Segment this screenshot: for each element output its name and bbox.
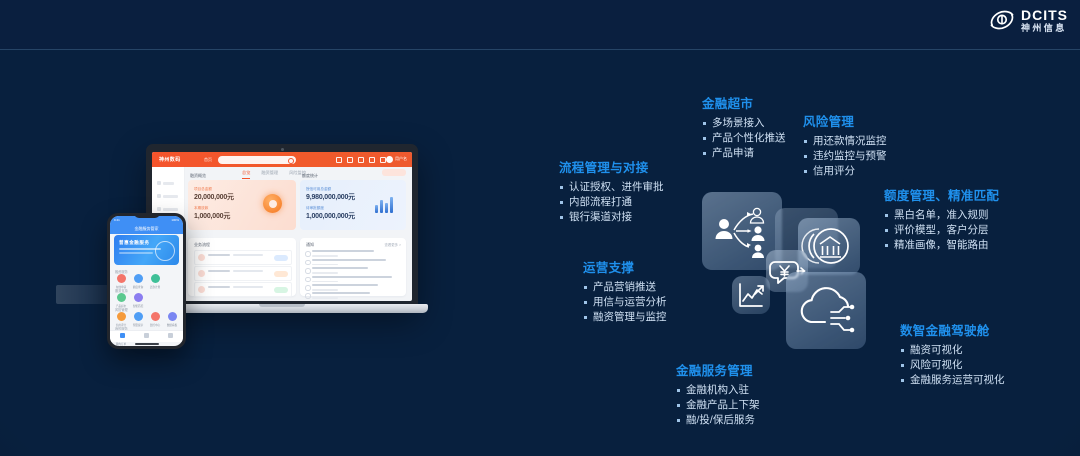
app-tile[interactable]: 额度查询 xyxy=(131,274,145,289)
app-primary-button[interactable] xyxy=(382,169,406,176)
tab-overview[interactable]: 总览 xyxy=(242,170,250,179)
block-heading: 流程管理与对接 xyxy=(559,157,664,176)
phone-tabbar[interactable] xyxy=(110,330,183,342)
progress-ring xyxy=(263,194,282,213)
table-row[interactable] xyxy=(194,282,292,297)
step-icon xyxy=(198,254,205,261)
block-list: 黑白名单，准入规则 评价模型，客户分层 精准画像，智能路由 xyxy=(884,208,999,253)
list-item: 产品营销推送 xyxy=(583,280,667,295)
tab-financing[interactable]: 融资管理 xyxy=(261,170,278,179)
app-tile[interactable]: 还款计划 xyxy=(148,274,162,289)
list-item: 信用评分 xyxy=(803,164,887,179)
phone-banner[interactable]: 普惠金融服务 xyxy=(114,235,179,265)
sidebar-item-financing[interactable] xyxy=(163,195,178,198)
cloud-circuit-icon xyxy=(786,272,866,349)
card-title-left: 融资概览 xyxy=(190,173,206,179)
metric-value: 9,980,000,000元 xyxy=(306,192,355,202)
growth-chart-icon xyxy=(732,276,770,314)
tile-label: 额度查询 xyxy=(131,285,145,289)
step-icon xyxy=(198,286,205,293)
app-search-input[interactable] xyxy=(218,156,296,164)
avatar xyxy=(386,156,393,163)
app-tile[interactable]: 监控中心 xyxy=(148,312,162,327)
table-row[interactable] xyxy=(194,266,292,281)
bell-icon[interactable] xyxy=(347,157,353,163)
header-bar xyxy=(0,0,1080,49)
user-icon xyxy=(168,333,173,338)
status-badge xyxy=(274,271,288,277)
app-logo: 神州数码 xyxy=(159,156,181,163)
panel-notifications: 通知 查看更多 > xyxy=(300,238,406,296)
icon-cluster xyxy=(690,188,870,363)
tile-row[interactable]: 在线申请 额度查询 还款计划 xyxy=(114,274,179,289)
block-financial-service-mgmt: 金融服务管理 金融机构入驻 金融产品上下架 融/投/保后服务 xyxy=(676,360,760,428)
block-heading: 金融服务管理 xyxy=(676,360,760,379)
panel-title: 通知 xyxy=(306,242,314,248)
gear-icon[interactable] xyxy=(369,157,375,163)
list-item: 用还款情况监控 xyxy=(803,134,887,149)
app-nav-label: 首页 xyxy=(204,157,212,163)
tile-label: 智能匹配 xyxy=(131,304,145,308)
app-tile[interactable]: 数据看板 xyxy=(165,312,179,327)
block-market: 金融超市 多场景接入 产品个性化推送 产品申请 xyxy=(702,93,786,161)
brand-logo: DCITS 神州信息 xyxy=(988,7,1068,33)
tile-label: 我的订单 xyxy=(114,342,128,346)
tile-label: 还款计划 xyxy=(148,285,162,289)
panel-workflow: 业务流程 xyxy=(188,238,296,296)
block-process: 流程管理与对接 认证授权、进件审批 内部流程打通 银行渠道对接 xyxy=(559,157,664,225)
status-badge xyxy=(274,287,288,293)
block-risk: 风险管理 用还款情况监控 违约监控与预警 信用评分 xyxy=(803,111,887,179)
home-icon xyxy=(120,333,125,338)
status-battery: 100% xyxy=(171,218,179,222)
help-icon[interactable] xyxy=(358,157,364,163)
block-heading: 金融超市 xyxy=(702,93,786,112)
sidebar-item-home[interactable] xyxy=(163,182,174,185)
metric-value: 20,000,000元 xyxy=(194,192,234,202)
tile-row[interactable]: 产品超市 智能匹配 xyxy=(114,293,179,308)
block-list: 多场景接入 产品个性化推送 产品申请 xyxy=(702,116,786,161)
sidebar-icon-analytics xyxy=(157,207,161,211)
block-list: 认证授权、进件审批 内部流程打通 银行渠道对接 xyxy=(559,180,664,225)
sidebar-icon-financing xyxy=(157,194,161,198)
laptop-lid: 神州数码 首页 用户名 总览 xyxy=(146,144,418,307)
list-item: 精准画像，智能路由 xyxy=(884,238,999,253)
app-tile[interactable]: 预警提示 xyxy=(131,312,145,327)
slide-root: 「金融服务管家」助力产业金融服务精准滴灌，提升产业链韧性 DCITS 神州信息 … xyxy=(0,0,1080,456)
list-item: 产品申请 xyxy=(702,146,786,161)
list-item: 融/投/保后服务 xyxy=(676,413,760,428)
list-item: 融资管理与监控 xyxy=(583,310,667,325)
list-item: 银行渠道对接 xyxy=(559,210,664,225)
block-list: 金融机构入驻 金融产品上下架 融/投/保后服务 xyxy=(676,383,760,428)
phone-page-title: 金融服务管家 xyxy=(135,226,159,232)
block-quota: 额度管理、精准匹配 黑白名单，准入规则 评价模型，客户分层 精准画像，智能路由 xyxy=(884,185,999,253)
sidebar-icon-home xyxy=(157,181,161,185)
logo-text-en: DCITS xyxy=(1021,8,1068,22)
step-icon xyxy=(198,270,205,277)
metric-card-financing: 项目总金额 20,000,000元 本期放款 1,000,000元 xyxy=(188,180,296,230)
tile-row[interactable]: 信用评分 预警提示 监控中心 数据看板 xyxy=(114,312,179,327)
service-icon xyxy=(144,333,149,338)
list-item: 融资可视化 xyxy=(900,343,1005,358)
laptop-screen: 神州数码 首页 用户名 总览 xyxy=(152,152,412,301)
app-toolbar-icons[interactable] xyxy=(336,157,386,163)
galaxy-swirl-icon xyxy=(988,7,1016,33)
app-user-label: 用户名 xyxy=(395,156,407,162)
sidebar-item-analytics[interactable] xyxy=(163,208,178,211)
tile-label: 监控中心 xyxy=(148,323,162,327)
card-title-right: 额度统计 xyxy=(302,173,318,179)
list-item: 内部流程打通 xyxy=(559,195,664,210)
list-item: 违约监控与预警 xyxy=(803,149,887,164)
panel-title: 业务流程 xyxy=(194,242,210,248)
status-badge xyxy=(274,255,288,261)
app-tile[interactable]: 智能匹配 xyxy=(131,293,145,308)
tile-growth-chart xyxy=(732,276,770,314)
block-heading: 风险管理 xyxy=(803,111,887,130)
banner-title: 普惠金融服务 xyxy=(119,240,150,246)
list-item: 金融产品上下架 xyxy=(676,398,760,413)
bar-chart-icon xyxy=(375,195,397,213)
decorative-strip xyxy=(56,285,112,304)
table-row[interactable] xyxy=(194,250,292,265)
block-list: 用还款情况监控 违约监控与预警 信用评分 xyxy=(803,134,887,179)
phone-notch xyxy=(134,213,160,218)
block-list: 融资可视化 风险可视化 金融服务运营可视化 xyxy=(900,343,1005,388)
list-item: 黑白名单，准入规则 xyxy=(884,208,999,223)
phone-screen: 9:41 100% 金融服务管家 普惠金融服务 融资服务 在线申请 额度查询 还… xyxy=(110,216,183,346)
metric-value: 1,000,000元 xyxy=(194,211,230,221)
block-cockpit: 数智金融驾驶舱 融资可视化 风险可视化 金融服务运营可视化 xyxy=(900,320,1005,388)
block-heading: 数智金融驾驶舱 xyxy=(900,320,1005,339)
grid-icon[interactable] xyxy=(336,157,342,163)
block-ops: 运营支撑 产品营销推送 用信与运营分析 融资管理与监控 xyxy=(583,257,667,325)
list-item: 产品个性化推送 xyxy=(702,131,786,146)
status-time: 9:41 xyxy=(114,218,120,222)
app-tile[interactable]: 信用评分 xyxy=(114,312,128,327)
app-user-menu[interactable]: 用户名 xyxy=(386,156,407,163)
search-icon xyxy=(288,158,294,164)
metric-card-quota: 授信可用总金额 9,980,000,000元 待审批额度 1,000,000,0… xyxy=(300,180,406,230)
phone-tab-mine[interactable] xyxy=(159,331,183,342)
app-tile[interactable]: 产品超市 xyxy=(114,293,128,308)
list-item: 评价模型，客户分层 xyxy=(884,223,999,238)
header-divider xyxy=(0,49,1080,50)
block-heading: 额度管理、精准匹配 xyxy=(884,185,999,204)
tile-cloud-circuit xyxy=(786,272,866,349)
panel-more-link[interactable]: 查看更多 > xyxy=(385,242,401,247)
list-item: 金融机构入驻 xyxy=(676,383,760,398)
list-item: 风险可视化 xyxy=(900,358,1005,373)
list-item: 用信与运营分析 xyxy=(583,295,667,310)
app-topbar: 神州数码 首页 用户名 xyxy=(152,152,412,167)
metric-value: 1,000,000,000元 xyxy=(306,211,355,221)
phone-tab-service[interactable] xyxy=(134,331,158,342)
phone-mockup: 9:41 100% 金融服务管家 普惠金融服务 融资服务 在线申请 额度查询 还… xyxy=(107,213,186,349)
list-item: 多场景接入 xyxy=(702,116,786,131)
app-tabs[interactable]: 总览 融资管理 风险监控 xyxy=(242,170,306,179)
list-item: 认证授权、进件审批 xyxy=(559,180,664,195)
list-item: 金融服务运营可视化 xyxy=(900,373,1005,388)
block-heading: 运营支撑 xyxy=(583,257,667,276)
phone-header: 金融服务管家 xyxy=(110,223,183,234)
app-tile[interactable]: 在线申请 xyxy=(114,274,128,289)
block-list: 产品营销推送 用信与运营分析 融资管理与监控 xyxy=(583,280,667,325)
home-indicator xyxy=(135,343,159,345)
tile-label: 数据看板 xyxy=(165,323,179,327)
globe-icon xyxy=(155,241,175,261)
logo-text-cn: 神州信息 xyxy=(1021,24,1068,33)
phone-tab-home[interactable] xyxy=(110,331,134,342)
tile-label: 预警提示 xyxy=(131,323,145,327)
